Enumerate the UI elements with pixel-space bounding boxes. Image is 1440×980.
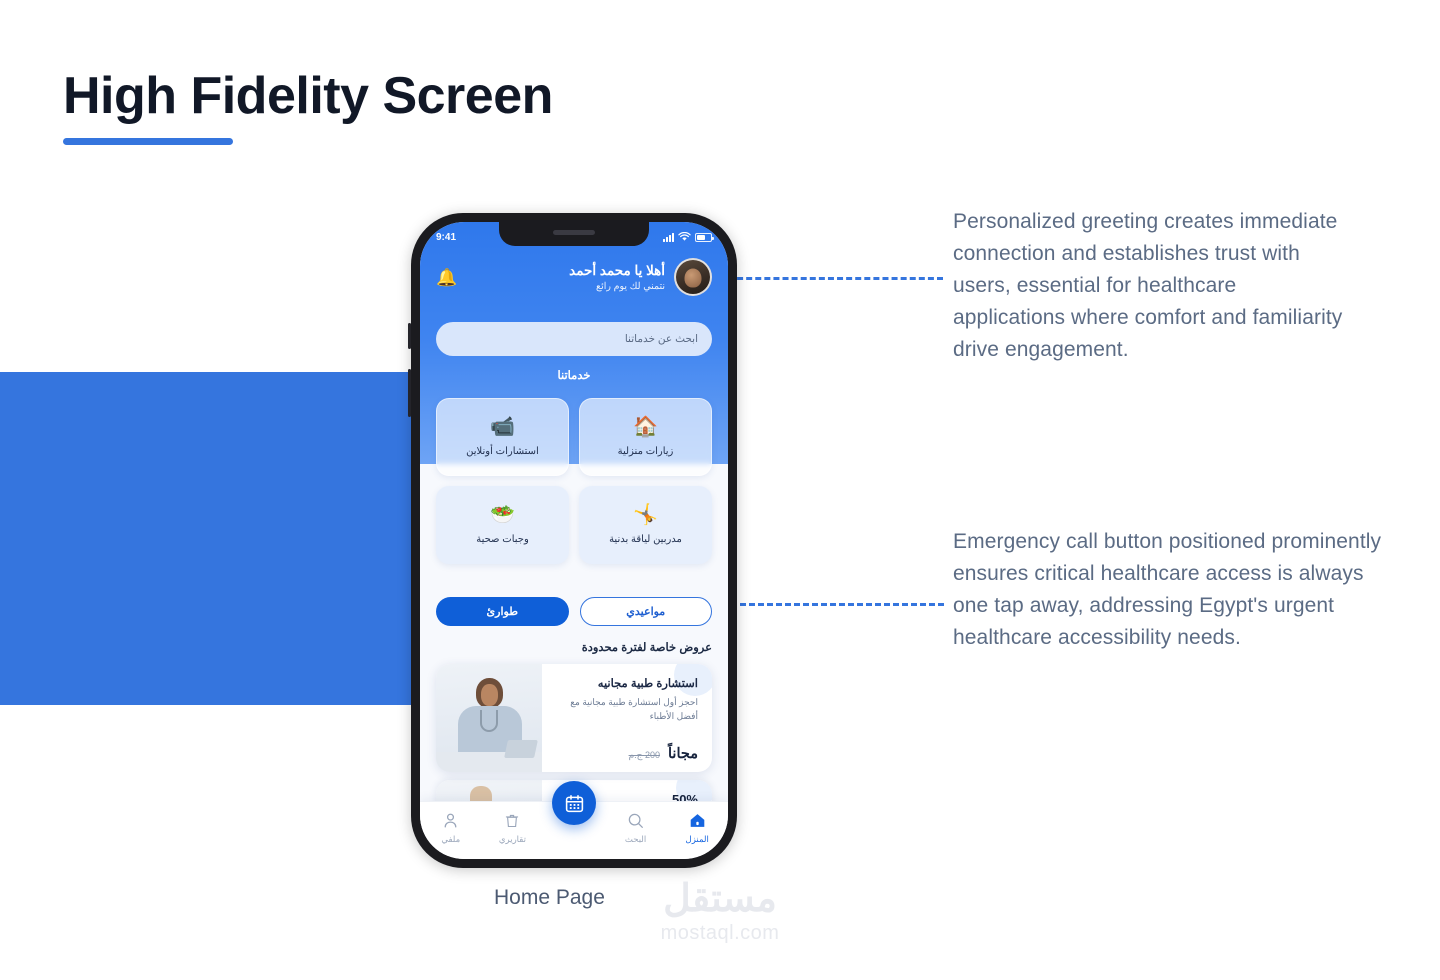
- services-section-title: خدماتنا: [420, 368, 728, 382]
- nav-item-search[interactable]: البحث: [605, 802, 667, 845]
- greeting-row: 🔔 أهلا يا محمد أحمد نتمني لك يوم رائع: [420, 258, 728, 296]
- service-label: مدربين لياقة بدنية: [609, 534, 682, 545]
- offers-section-title: عروض خاصة لفترة محدودة: [420, 640, 728, 654]
- emergency-button[interactable]: طوارئ: [436, 597, 569, 626]
- offer-price-new: مجاناً: [668, 746, 698, 762]
- phone-notch: [499, 222, 649, 246]
- appointments-button[interactable]: مواعيدي: [580, 597, 713, 626]
- service-label: وجبات صحية: [476, 534, 529, 545]
- phone-screen: 9:41 🔔 أهلا يا محمد أحمد: [420, 222, 728, 859]
- screen-caption: Home Page: [494, 886, 605, 910]
- calendar-icon: [564, 793, 585, 814]
- search-input[interactable]: ابحث عن خدماتنا: [436, 322, 712, 356]
- watermark-arabic: مستقل: [630, 880, 810, 918]
- service-label: استشارات أونلاين: [466, 446, 539, 457]
- video-camera-icon: 📹: [490, 417, 515, 437]
- search-placeholder: ابحث عن خدماتنا: [625, 333, 698, 345]
- notification-bell-icon[interactable]: 🔔: [436, 269, 457, 286]
- salad-icon: 🥗: [490, 505, 515, 525]
- service-card-healthy-meals[interactable]: 🥗 وجبات صحية: [436, 486, 569, 564]
- greeting-subtitle: نتمني لك يوم رائع: [569, 281, 665, 292]
- annotation-greeting: Personalized greeting creates immediate …: [953, 206, 1353, 366]
- house-icon: 🏠: [633, 417, 658, 437]
- services-grid: 📹 استشارات أونلاين 🏠 زيارات منزلية 🥗 وجب…: [420, 398, 728, 564]
- signal-bars-icon: [663, 233, 674, 242]
- speaker-icon: [553, 230, 595, 235]
- callout-connector-greeting: [728, 277, 943, 280]
- service-card-online-consultation[interactable]: 📹 استشارات أونلاين: [436, 398, 569, 476]
- home-icon: [689, 811, 706, 830]
- nav-label: البحث: [625, 834, 646, 845]
- page-title: High Fidelity Screen: [63, 66, 553, 126]
- service-card-fitness-trainers[interactable]: 🤸 مدربين لياقة بدنية: [579, 486, 712, 564]
- nav-item-home[interactable]: المنزل: [666, 802, 728, 845]
- nav-item-profile[interactable]: ملفي: [420, 802, 482, 845]
- watermark-latin: mostaql.com: [630, 922, 810, 945]
- nav-label: تقاريري: [499, 834, 526, 845]
- battery-icon: [695, 233, 712, 242]
- decorative-blue-block: [0, 372, 412, 705]
- annotation-emergency: Emergency call button positioned promine…: [953, 526, 1383, 654]
- service-label: زيارات منزلية: [618, 446, 674, 457]
- search-icon: [627, 811, 644, 830]
- offer-price-row: مجاناً 200 ج.م: [550, 746, 698, 762]
- avatar[interactable]: [674, 258, 712, 296]
- nav-item-reports[interactable]: تقاريري: [482, 802, 544, 845]
- callout-connector-emergency: [722, 603, 944, 606]
- wifi-icon: [678, 232, 691, 242]
- greeting-title: أهلا يا محمد أحمد: [569, 263, 665, 279]
- offer-price-old: 200 ج.م: [629, 750, 660, 761]
- status-time: 9:41: [436, 232, 456, 243]
- watermark: مستقل mostaql.com: [630, 880, 810, 945]
- phone-mockup: 9:41 🔔 أهلا يا محمد أحمد: [411, 213, 737, 868]
- action-buttons-row: طوارئ مواعيدي: [420, 597, 728, 626]
- trash-icon: [504, 811, 520, 830]
- offer-heading: استشارة طبية مجانيه: [550, 676, 698, 690]
- offer-description: احجز أول استشارة طبية مجانية مع أفضل الأ…: [550, 695, 698, 723]
- title-underline: [63, 138, 233, 145]
- calendar-fab-button[interactable]: [552, 781, 596, 825]
- bottom-navigation: ملفي تقاريري البحث: [420, 801, 728, 859]
- nav-label: المنزل: [686, 834, 709, 845]
- search-container: ابحث عن خدماتنا: [420, 322, 728, 356]
- doctor-photo: [436, 664, 542, 772]
- offer-card-free-consultation[interactable]: استشارة طبية مجانيه احجز أول استشارة طبي…: [436, 664, 712, 772]
- person-icon: [442, 811, 459, 830]
- fitness-icon: 🤸: [633, 505, 658, 525]
- service-card-home-visits[interactable]: 🏠 زيارات منزلية: [579, 398, 712, 476]
- slide-canvas: High Fidelity Screen Personalized greeti…: [0, 0, 1440, 980]
- nav-label: ملفي: [441, 834, 460, 845]
